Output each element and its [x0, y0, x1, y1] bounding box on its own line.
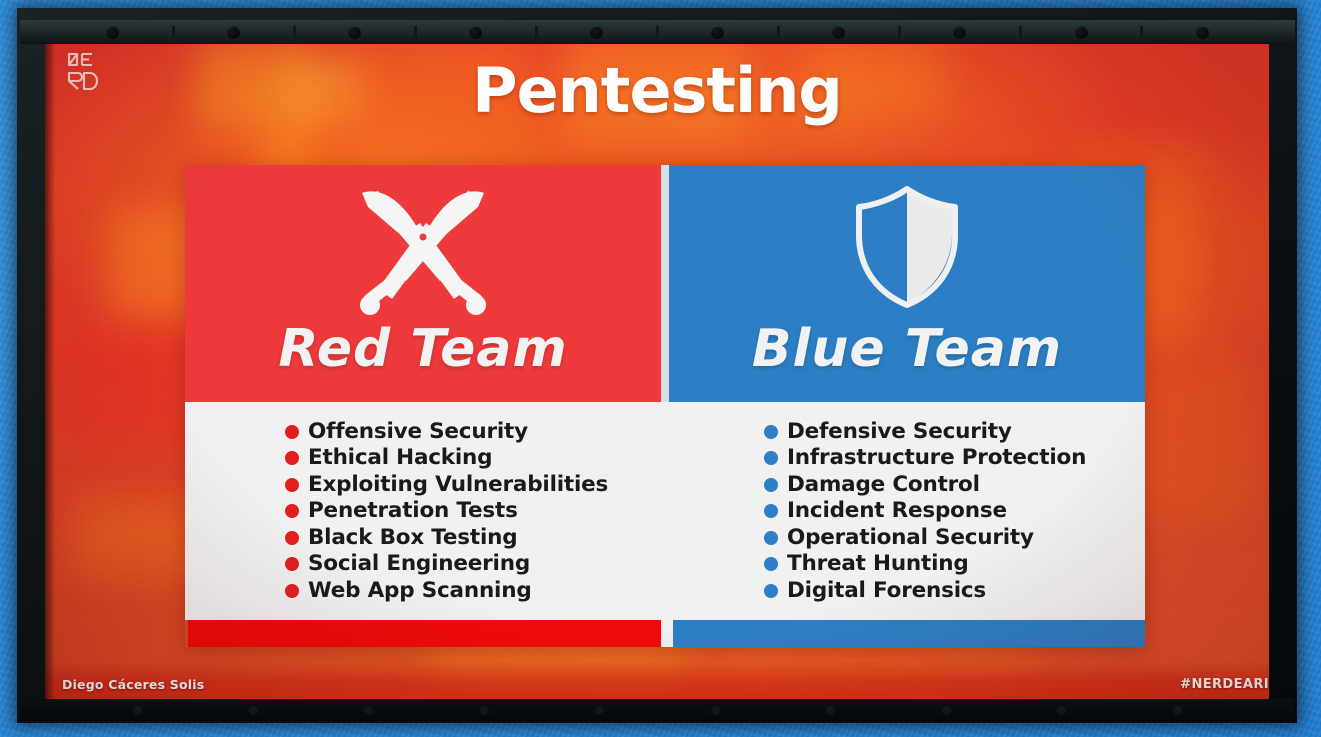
list-item-label: Exploiting Vulnerabilities	[308, 474, 608, 496]
shield-icon	[842, 177, 972, 317]
list-item-label: Operational Security	[787, 527, 1034, 549]
list-item-label: Defensive Security	[787, 421, 1012, 443]
truss-bolt	[469, 26, 482, 39]
list-item: Incident Response	[764, 498, 1145, 525]
list-item-label: Threat Hunting	[787, 553, 969, 575]
list-item-label: Black Box Testing	[308, 527, 517, 549]
truss-bolt	[826, 706, 835, 715]
bullet-dot-icon	[285, 584, 299, 598]
bullet-dot-icon	[285, 557, 299, 571]
card-header-row: Red Team Blue Team	[185, 165, 1145, 402]
truss-tick	[656, 26, 659, 39]
truss-tick	[535, 26, 538, 39]
red-vs-blue-team-card: Red Team Blue Team	[185, 165, 1145, 647]
card-footer-bars	[185, 620, 1145, 647]
room-background: Pentesting	[0, 0, 1321, 737]
truss-bolt	[348, 26, 361, 39]
list-item: Penetration Tests	[285, 498, 666, 525]
red-footer-bar	[188, 620, 661, 647]
truss-bolt	[480, 706, 489, 715]
truss-bolt	[590, 26, 603, 39]
truss-tick	[172, 26, 175, 39]
blue-team-header: Blue Team	[669, 165, 1145, 402]
bullet-dot-icon	[764, 478, 778, 492]
list-item: Threat Hunting	[764, 551, 1145, 578]
list-item: Defensive Security	[764, 418, 1145, 445]
truss-bolt	[595, 706, 604, 715]
list-item-label: Penetration Tests	[308, 500, 518, 522]
list-item: Web App Scanning	[285, 577, 666, 604]
truss-bolt	[711, 706, 720, 715]
truss-bolt	[1075, 26, 1088, 39]
truss-bolt	[249, 706, 258, 715]
blue-footer-bar	[673, 620, 1146, 647]
bullet-dot-icon	[764, 557, 778, 571]
truss-bolt	[942, 706, 951, 715]
top-truss-bar	[20, 20, 1295, 44]
page-title: Pentesting	[45, 54, 1269, 127]
list-item-label: Ethical Hacking	[308, 447, 492, 469]
event-hashtag: #NERDEARI	[1180, 677, 1269, 692]
bullet-dot-icon	[285, 451, 299, 465]
blue-team-title: Blue Team	[752, 319, 1062, 379]
truss-tick	[1140, 26, 1143, 39]
bullet-dot-icon	[764, 584, 778, 598]
truss-tick	[414, 26, 417, 39]
list-item: Offensive Security	[285, 418, 666, 445]
background-blur-shape	[1135, 358, 1245, 518]
blue-team-list: Defensive Security Infrastructure Protec…	[674, 402, 1145, 620]
truss-bolt	[106, 26, 119, 39]
crossed-swords-icon	[348, 177, 498, 317]
truss-bolt	[227, 26, 240, 39]
bullet-dot-icon	[764, 425, 778, 439]
bullet-dot-icon	[285, 478, 299, 492]
truss-tick	[1019, 26, 1022, 39]
bullet-dot-icon	[285, 425, 299, 439]
list-item: Social Engineering	[285, 551, 666, 578]
list-item: Damage Control	[764, 471, 1145, 498]
truss-bolt	[1196, 26, 1209, 39]
background-blur-shape	[65, 328, 195, 438]
bullet-dot-icon	[764, 504, 778, 518]
truss-bolt	[1173, 706, 1182, 715]
list-item: Ethical Hacking	[285, 445, 666, 472]
truss-tick	[777, 26, 780, 39]
list-item: Black Box Testing	[285, 524, 666, 551]
list-item: Infrastructure Protection	[764, 445, 1145, 472]
bullet-dot-icon	[285, 504, 299, 518]
list-item-label: Incident Response	[787, 500, 1007, 522]
bottom-truss-bar	[20, 699, 1295, 721]
screen-edge-shadow	[45, 28, 55, 705]
list-item: Digital Forensics	[764, 577, 1145, 604]
truss-tick	[293, 26, 296, 39]
bullet-dot-icon	[285, 531, 299, 545]
truss-bolt	[953, 26, 966, 39]
bullet-dot-icon	[764, 531, 778, 545]
list-item: Exploiting Vulnerabilities	[285, 471, 666, 498]
red-team-header: Red Team	[185, 165, 661, 402]
truss-tick	[898, 26, 901, 39]
truss-bolt	[711, 26, 724, 39]
presentation-slide: Pentesting	[45, 28, 1269, 705]
list-item-label: Web App Scanning	[308, 580, 532, 602]
speaker-name: Diego Cáceres Solis	[62, 677, 204, 692]
truss-bolt	[133, 706, 142, 715]
list-item-label: Social Engineering	[308, 553, 530, 575]
list-item-label: Damage Control	[787, 474, 980, 496]
panel-divider	[661, 165, 669, 402]
red-team-title: Red Team	[278, 319, 567, 379]
bullet-dot-icon	[764, 451, 778, 465]
truss-bolt	[1057, 706, 1066, 715]
truss-bolt	[832, 26, 845, 39]
list-item-label: Infrastructure Protection	[787, 447, 1086, 469]
list-item-label: Offensive Security	[308, 421, 528, 443]
red-team-list: Offensive Security Ethical Hacking Explo…	[185, 402, 666, 620]
list-item: Operational Security	[764, 524, 1145, 551]
truss-bolt	[364, 706, 373, 715]
card-list-row: Offensive Security Ethical Hacking Explo…	[185, 402, 1145, 620]
list-item-label: Digital Forensics	[787, 580, 986, 602]
list-divider	[666, 402, 674, 620]
footer-bar-gap	[661, 620, 673, 647]
